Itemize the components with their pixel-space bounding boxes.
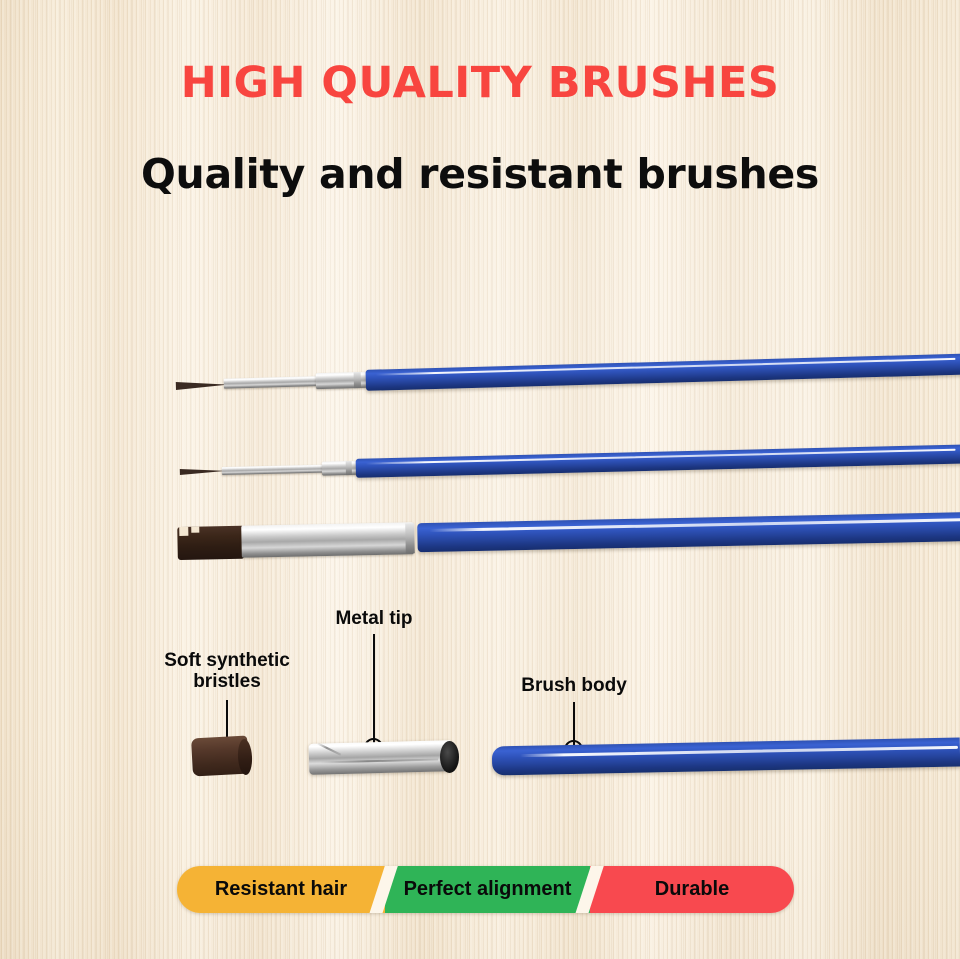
ferrule-band [405,523,415,553]
metal-ferrule [241,522,414,557]
metal-ferrule-wide [322,461,358,476]
feature-label-perfect-alignment: Perfect alignment [404,878,572,901]
bristle-notch [191,527,199,533]
callout-label-bristles: Soft synthetic bristles [137,650,317,693]
product-infographic: HIGH QUALITY BRUSHES Quality and resista… [0,0,960,959]
feature-badge-bar: Resistant hair Perfect alignment Durable [177,866,794,913]
feature-segment-resistant-hair[interactable]: Resistant hair [177,866,385,913]
bristle-tip-icon [180,468,226,475]
feature-label-durable: Durable [655,878,729,901]
sample-metal-tip [309,740,452,775]
feature-label-resistant-hair: Resistant hair [215,878,347,901]
sample-metal-end-cap [440,741,459,773]
page-title: HIGH QUALITY BRUSHES [0,58,960,108]
metal-ferrule [222,465,326,475]
leader-line-metal-tip [373,634,375,747]
metal-ferrule [224,376,320,389]
feature-segment-durable[interactable]: Durable [590,866,794,913]
ferrule-band [346,461,352,475]
callout-label-metal-tip: Metal tip [294,608,454,629]
callout-label-brush-body: Brush body [494,675,654,696]
page-subtitle: Quality and resistant brushes [0,150,960,198]
ferrule-band [354,372,361,388]
bristle-notch [179,527,188,536]
feature-segment-perfect-alignment[interactable]: Perfect alignment [385,866,590,913]
bristle-tip-icon [176,381,228,390]
